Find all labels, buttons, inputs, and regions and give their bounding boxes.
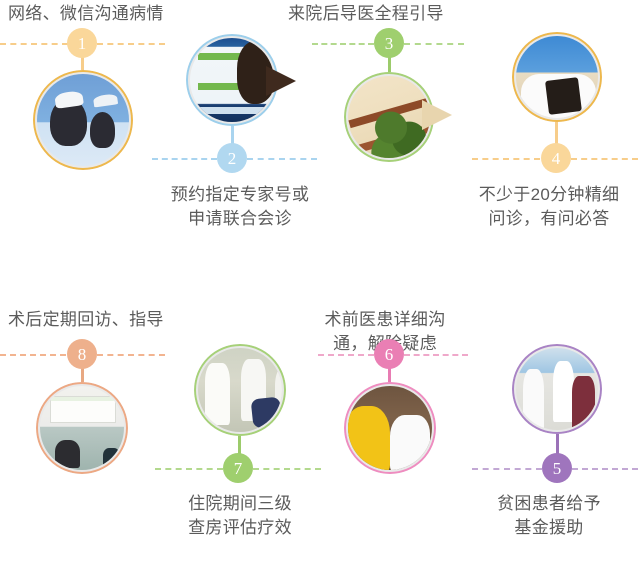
caption-step-2: 预约指定专家号或 申请联合会诊 (140, 183, 340, 231)
photo-step-1[interactable] (33, 70, 133, 170)
photo-step-2-frame (190, 38, 274, 122)
badge-step-1-number: 1 (78, 35, 87, 52)
badge-step-2[interactable]: 2 (217, 143, 247, 173)
nurse-call-center-photo (37, 74, 129, 166)
rail-step-2-right (247, 158, 317, 160)
rail-step-8-left (0, 354, 66, 356)
registration-screen-photo (190, 38, 274, 122)
caption-step-8: 术后定期回访、指导 (8, 308, 238, 332)
photo-step-7[interactable] (194, 344, 286, 436)
rail-step-4-left (472, 158, 540, 160)
rail-step-8-right (97, 354, 165, 356)
hospital-staircase-photo (348, 76, 430, 158)
doctors-reviewing-xray-photo (516, 36, 598, 118)
badge-step-8[interactable]: 8 (67, 339, 97, 369)
badge-step-4[interactable]: 4 (541, 143, 571, 173)
photo-step-6-frame (348, 386, 432, 470)
badge-step-5-number: 5 (553, 460, 562, 477)
caption-step-7: 住院期间三级 查房评估疗效 (140, 492, 340, 540)
caption-step-4: 不少于20分钟精细 问诊，有问必答 (460, 183, 638, 231)
badge-step-2-number: 2 (228, 150, 237, 167)
patient-with-doctors-photo (516, 348, 598, 430)
photo-step-7-frame (198, 348, 282, 432)
caption-step-1: 网络、微信沟通病情 (8, 2, 238, 26)
photo-step-8-frame (40, 386, 124, 470)
caption-step-5: 贫困患者给予 基金援助 (460, 492, 638, 540)
photo-step-5[interactable] (512, 344, 602, 434)
rail-step-4-right (571, 158, 638, 160)
rail-step-2-left (152, 158, 217, 160)
arrow-step3-to-step4-icon (420, 96, 464, 134)
badge-step-7[interactable]: 7 (223, 453, 253, 483)
rail-step-3-right (404, 43, 464, 45)
badge-step-5[interactable]: 5 (542, 453, 572, 483)
photo-step-3-frame (348, 76, 430, 158)
rail-step-7-right (253, 468, 321, 470)
followup-call-desk-photo (40, 386, 124, 470)
badge-step-6[interactable]: 6 (374, 339, 404, 369)
photo-step-4-frame (516, 36, 598, 118)
badge-step-3[interactable]: 3 (374, 28, 404, 58)
photo-step-4[interactable] (512, 32, 602, 122)
photo-step-1-frame (37, 74, 129, 166)
photo-step-6[interactable] (344, 382, 436, 474)
badge-step-1[interactable]: 1 (67, 28, 97, 58)
ward-round-photo (198, 348, 282, 432)
photo-step-8[interactable] (36, 382, 128, 474)
caption-step-3: 来院后导医全程引导 (288, 2, 518, 26)
rail-step-5-right (572, 468, 638, 470)
badge-step-6-number: 6 (385, 346, 394, 363)
stem-step-4 (555, 118, 558, 146)
photo-step-5-frame (516, 348, 598, 430)
arrow-step2-to-step3-icon (264, 62, 308, 102)
badge-step-8-number: 8 (78, 346, 87, 363)
badge-step-4-number: 4 (552, 150, 561, 167)
rail-step-1 (0, 43, 68, 45)
badge-step-7-number: 7 (234, 460, 243, 477)
rail-step-3-left (312, 43, 374, 45)
preop-consultation-photo (348, 386, 432, 470)
flow-diagram: 1 网络、微信沟通病情 2 预约指定专家号或 申请联合会诊 3 来院后导医全程引… (0, 0, 638, 565)
badge-step-3-number: 3 (385, 35, 394, 52)
rail-step-7-left (155, 468, 223, 470)
rail-step-5-left (472, 468, 542, 470)
rail-step-1-right (97, 43, 165, 45)
